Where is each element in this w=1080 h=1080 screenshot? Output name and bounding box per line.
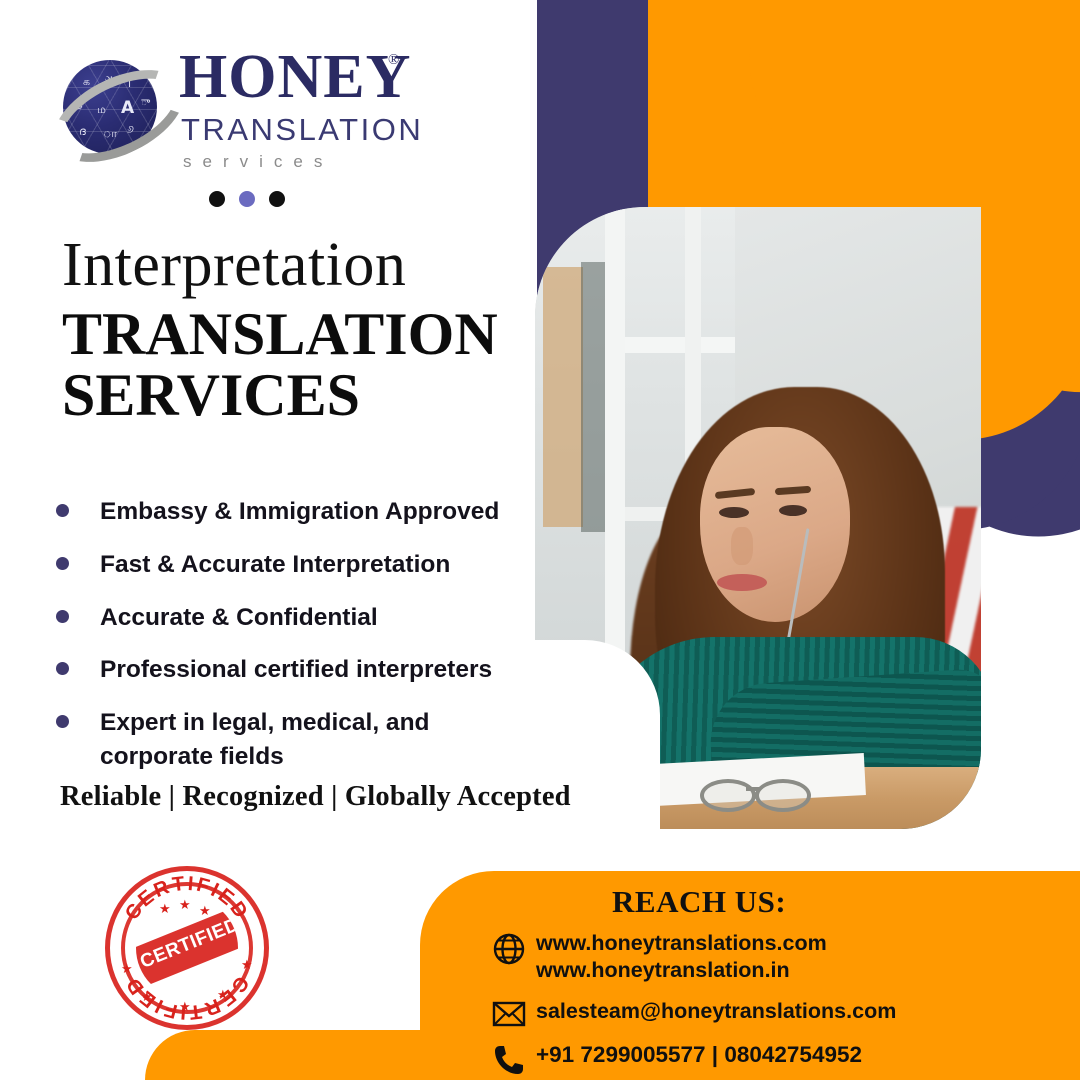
bullet-dot-icon <box>56 557 69 570</box>
envelope-icon <box>492 998 536 1028</box>
globe-icon <box>492 930 536 966</box>
contact-row-phone: +91 7299005577 | 08042754952 <box>492 1041 1062 1077</box>
list-item: Embassy & Immigration Approved <box>56 495 526 529</box>
decor-dot-1 <box>209 191 225 207</box>
contact-heading: REACH US: <box>612 884 786 920</box>
headline-bold-1: TRANSLATION <box>62 302 498 367</box>
certified-stamp-icon: CERTIFIED CERTIFIED ★ ★ ★ ★ ★ ★ ★ ★ CERT… <box>105 866 269 1030</box>
website-line-2[interactable]: www.honeytranslation.in <box>536 958 790 982</box>
tagline: Reliable | Recognized | Globally Accepte… <box>60 781 571 813</box>
features-list: Embassy & Immigration Approved Fast & Ac… <box>56 495 526 793</box>
page-title: Interpretation TRANSLATION SERVICES <box>62 234 498 429</box>
poster-canvas: க ગ । ઈ ம A ా ദ ா ୬ HONEY ® TRANSLATION … <box>0 0 1080 1080</box>
list-item-label: Accurate & Confidential <box>100 601 378 635</box>
decor-dot-2 <box>239 191 255 207</box>
contact-row-website: www.honeytranslations.com www.honeytrans… <box>492 930 1062 985</box>
contact-website-lines[interactable]: www.honeytranslations.com www.honeytrans… <box>536 930 827 985</box>
bullet-dot-icon <box>56 504 69 517</box>
list-item-label: Expert in legal, medical, and corporate … <box>100 706 445 774</box>
contact-phone[interactable]: +91 7299005577 | 08042754952 <box>536 1041 862 1070</box>
list-item: Professional certified interpreters <box>56 653 526 687</box>
bullet-dot-icon <box>56 610 69 623</box>
registered-mark-icon: ® <box>388 52 399 69</box>
website-line-1[interactable]: www.honeytranslations.com <box>536 931 827 955</box>
list-item-label: Fast & Accurate Interpretation <box>100 548 450 582</box>
headline-script: Interpretation <box>62 234 498 296</box>
photo-glasses <box>700 777 835 807</box>
brand-logo: க ગ । ઈ ம A ా ദ ா ୬ HONEY ® TRANSLATION … <box>55 46 455 174</box>
contact-email[interactable]: salesteam@honeytranslations.com <box>536 998 896 1025</box>
list-item-label: Professional certified interpreters <box>100 653 492 687</box>
logo-name-primary: HONEY <box>179 46 411 108</box>
contact-list: www.honeytranslations.com www.honeytrans… <box>492 930 1062 1080</box>
list-item: Fast & Accurate Interpretation <box>56 548 526 582</box>
decor-dots <box>209 191 285 207</box>
headline-bold-2: SERVICES <box>62 363 498 428</box>
list-item: Accurate & Confidential <box>56 601 526 635</box>
list-item: Expert in legal, medical, and corporate … <box>56 706 526 774</box>
globe-languages-icon: க ગ । ઈ ம A ా ദ ா ୬ <box>55 52 165 162</box>
bullet-dot-icon <box>56 662 69 675</box>
logo-name-secondary: TRANSLATION <box>181 114 423 145</box>
logo-name-tertiary: services <box>183 153 333 170</box>
contact-row-email: salesteam@honeytranslations.com <box>492 998 1062 1028</box>
list-item-label: Embassy & Immigration Approved <box>100 495 499 529</box>
photo-face <box>700 427 850 622</box>
decor-dot-3 <box>269 191 285 207</box>
bullet-dot-icon <box>56 715 69 728</box>
phone-icon <box>492 1041 536 1077</box>
stamp-core: CERTIFIED <box>136 897 238 999</box>
